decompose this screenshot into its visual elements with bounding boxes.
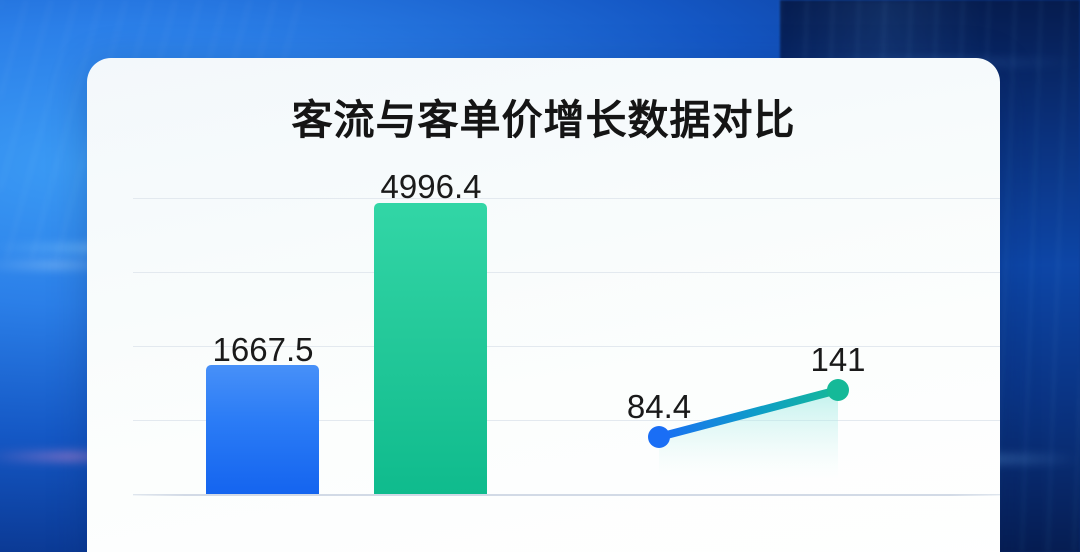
- screenshot-root: 客流与客单价增长数据对比 1667.5 4996.4: [0, 0, 1080, 552]
- chart-card: 客流与客单价增长数据对比 1667.5 4996.4: [87, 58, 1000, 552]
- gridline: [133, 198, 1000, 199]
- x-axis-line: [133, 494, 1000, 496]
- chart-title: 客流与客单价增长数据对比: [87, 86, 1000, 146]
- bar-label-1667: 1667.5: [213, 331, 314, 369]
- bar-label-4996: 4996.4: [381, 168, 482, 206]
- bar-keliu-growth[interactable]: [374, 203, 487, 495]
- line-label-141: 141: [810, 341, 865, 379]
- gridline: [133, 272, 1000, 273]
- bar-keliu[interactable]: [206, 365, 319, 495]
- line-label-84: 84.4: [627, 388, 691, 426]
